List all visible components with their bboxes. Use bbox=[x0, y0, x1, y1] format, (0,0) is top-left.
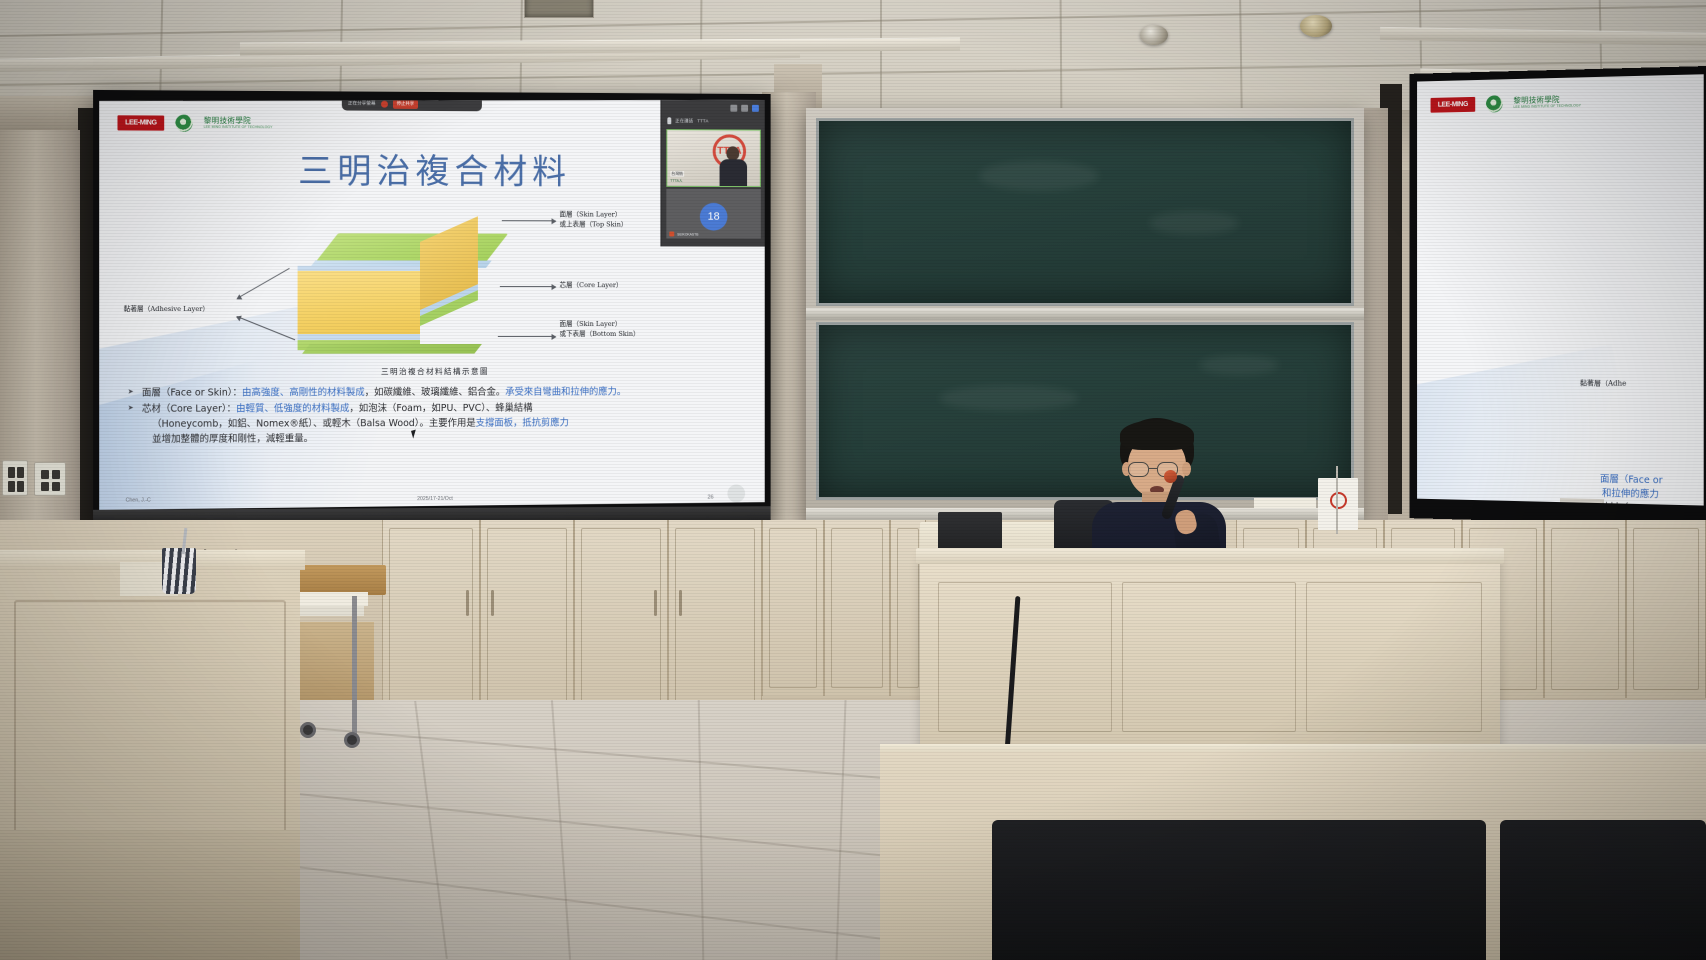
cabinet-door[interactable] bbox=[574, 520, 668, 710]
top-adhesive-front-strip bbox=[298, 266, 420, 271]
arrow-to-core bbox=[500, 286, 556, 287]
top-skin-layer-face bbox=[316, 233, 508, 262]
bullet-2-body-a: 由輕質、低強度的材料製成 bbox=[236, 403, 349, 414]
flag-pole bbox=[1336, 466, 1338, 534]
lee-ming-logo-text: LEE-MING bbox=[1438, 101, 1468, 109]
slide-footer-date: 2025/17-21/Oct bbox=[417, 496, 453, 502]
table-caster-wheel bbox=[344, 732, 360, 748]
recording-dot-icon bbox=[381, 100, 388, 107]
lee-ming-logo-text: LEE-MING bbox=[125, 119, 157, 126]
podium-top-edge bbox=[916, 548, 1504, 564]
label-core-layer: 芯層（Core Layer） bbox=[559, 281, 622, 291]
cabinet-door[interactable] bbox=[762, 520, 824, 696]
second-screen-adhesive-label: 黏著層（Adhe bbox=[1580, 378, 1626, 389]
cabinet-door[interactable] bbox=[668, 520, 762, 710]
mic-icon bbox=[667, 117, 671, 124]
microphone-head-icon bbox=[1164, 470, 1177, 483]
arrow-to-top-skin bbox=[502, 220, 556, 221]
bullet-2-sub-text: （Honeycomb，如鋁、Nomex®紙）、或輕木（Balsa Wood）。主… bbox=[152, 418, 476, 430]
bullet-2-last-line: 並增加整體的厚度和剛性，減輕重量。 bbox=[128, 431, 749, 448]
label-bottom-skin: 面層（Skin Layer） 或下表層（Bottom Skin） bbox=[559, 320, 639, 339]
zoom-tile-name: 台灣紡 bbox=[670, 171, 684, 177]
eyeglasses-bridge bbox=[1149, 468, 1157, 469]
zoom-speaking-label: 正在講話 bbox=[675, 118, 693, 124]
zoom-participant-panel: 正在講話 TTTA TTTA 台灣紡 TTTA人 18 SEIKOKASTB bbox=[660, 99, 764, 246]
desk-flag bbox=[1318, 478, 1358, 530]
main-projection-screen: 正在分享螢幕 停止共享 LEE-MING 黎明技術學院 LEE MING INS… bbox=[93, 90, 771, 534]
wall-light-switch[interactable] bbox=[2, 460, 28, 496]
institute-seal-icon bbox=[1486, 95, 1503, 112]
bench-seat[interactable] bbox=[992, 820, 1486, 960]
slide-page-number: 26 bbox=[708, 495, 714, 501]
slide-logo-row: LEE-MING 黎明技術學院 LEE MING INSTITUTE OF TE… bbox=[117, 114, 272, 132]
table-leg bbox=[352, 596, 357, 746]
avatar: 18 bbox=[700, 203, 728, 231]
slide-corner-badge-icon bbox=[727, 485, 745, 503]
minimize-icon[interactable] bbox=[730, 105, 737, 112]
flag-emblem-icon bbox=[1330, 492, 1347, 509]
eyeglasses-left-lens-icon bbox=[1128, 462, 1149, 477]
zoom-share-status-text: 正在分享螢幕 bbox=[348, 100, 376, 106]
maximize-icon[interactable] bbox=[741, 105, 748, 112]
zoom-video-tile-avatar[interactable]: 18 SEIKOKASTB bbox=[666, 189, 760, 239]
chalkboard-mid-rail bbox=[806, 308, 1364, 320]
lee-ming-logo: LEE-MING bbox=[117, 115, 164, 130]
arrow-to-bottom-skin bbox=[498, 336, 556, 337]
podium-front-panel bbox=[938, 582, 1112, 732]
zoom-share-bar[interactable]: 正在分享螢幕 停止共享 bbox=[342, 96, 482, 111]
ceiling-air-vent bbox=[524, 0, 594, 18]
bench-seat[interactable] bbox=[1500, 820, 1706, 960]
podium-front-panel bbox=[1306, 582, 1482, 732]
cabinet-door[interactable] bbox=[1544, 520, 1626, 698]
zoom-video-tile-active[interactable]: TTTA 台灣紡 TTTA人 bbox=[666, 129, 760, 187]
second-screen-bullet-1b: 和拉伸的應力 bbox=[1602, 485, 1659, 500]
zoom-tile-org: TTTA人 bbox=[670, 179, 682, 184]
projected-slide: 正在分享螢幕 停止共享 LEE-MING 黎明技術學院 LEE MING INS… bbox=[99, 96, 765, 510]
diagram-caption: 三明治複合材料結構示意圖 bbox=[99, 366, 765, 378]
bullet-2-body-b: ，如泡沫（Foam，如PU、PVC）、蜂巢結構 bbox=[349, 402, 532, 413]
presenter-ear bbox=[1182, 462, 1191, 476]
zoom-speaker-name: TTTA bbox=[697, 118, 708, 123]
lee-ming-logo: LEE-MING bbox=[1431, 97, 1476, 113]
second-screen-bullet-1: 面層（Face or bbox=[1600, 471, 1663, 486]
participant-silhouette bbox=[719, 146, 748, 187]
core-layer-front bbox=[298, 266, 420, 338]
lecture-hall-photo: LEE-MING 黎明技術學院 LEE MING INSTITUTE OF TE… bbox=[0, 0, 1706, 960]
wall-outlet-panel[interactable] bbox=[34, 462, 66, 496]
table-caster-wheel bbox=[300, 722, 316, 738]
zoom-window-controls[interactable] bbox=[730, 105, 758, 112]
zoom-stop-share-button[interactable]: 停止共享 bbox=[393, 99, 419, 108]
podium-front-panel bbox=[1122, 582, 1296, 732]
bottom-skin-face bbox=[302, 344, 482, 354]
cabinet-door[interactable] bbox=[480, 520, 574, 710]
label-top-skin: 面層（Skin Layer） 或上表層（Top Skin） bbox=[559, 210, 627, 229]
zoom-tile2-name: SEIKOKASTB bbox=[677, 233, 698, 237]
paper-cup bbox=[162, 548, 196, 594]
cabinet-door[interactable] bbox=[824, 520, 890, 696]
presenter-hair-front bbox=[1120, 420, 1194, 450]
layout-icon[interactable] bbox=[752, 105, 759, 112]
cabinet-door[interactable] bbox=[382, 520, 480, 710]
second-screen-bullet-2: 芯材（Core La bbox=[1600, 499, 1665, 506]
slide-footer-author: Chen, J.-C bbox=[126, 497, 151, 503]
bullet-item-core-layer: 芯材（Core Layer）：由輕質、低強度的材料製成，如泡沫（Foam，如PU… bbox=[128, 401, 749, 417]
secondary-projection-screen: LEE-MING 黎明技術學院 LEE MING INSTITUTE OF TE… bbox=[1409, 66, 1706, 526]
desk-base bbox=[0, 830, 300, 960]
chalkboard-upper-panel bbox=[816, 118, 1354, 306]
institute-name-cn: 黎明技術學院 bbox=[204, 117, 273, 125]
papers-on-podium bbox=[1254, 498, 1316, 508]
bullet-item-face-skin: 面層（Face or Skin）：由高強度、高剛性的材料製成，如碳纖維、玻璃纖維… bbox=[128, 385, 749, 401]
ceiling-downlight bbox=[1300, 15, 1332, 37]
bullet-1-body-a: 由高強度、高剛性的材料製成 bbox=[242, 387, 365, 398]
bullet-2-lead: 芯材（Core Layer）： bbox=[142, 403, 236, 414]
arrow-to-adhesive-top bbox=[237, 268, 290, 299]
muted-mic-icon bbox=[669, 232, 674, 237]
bullet-2-sub-highlight: 支撐面板，抵抗剪應力 bbox=[476, 418, 569, 429]
zoom-status-bar: 正在講話 TTTA bbox=[667, 117, 760, 124]
bullet-1-body-c: 承受來自彎曲和拉伸的應力。 bbox=[505, 387, 626, 398]
sandwich-structure-diagram bbox=[298, 216, 498, 357]
institute-name-en: LEE MING INSTITUTE OF TECHNOLOGY bbox=[204, 126, 273, 130]
avatar-initials: 18 bbox=[708, 211, 720, 223]
institute-name-en: LEE MING INSTITUTE OF TECHNOLOGY bbox=[1513, 105, 1581, 110]
bullet-1-lead: 面層（Face or Skin）： bbox=[142, 387, 242, 398]
ceiling-downlight bbox=[1140, 25, 1168, 45]
label-adhesive-layer: 黏著層（Adhesive Layer） bbox=[124, 305, 210, 315]
cabinet-door[interactable] bbox=[1626, 520, 1706, 698]
second-screen-edge-block bbox=[1560, 498, 1604, 505]
slide-bullet-list: 面層（Face or Skin）：由高強度、高剛性的材料製成，如碳纖維、玻璃纖維… bbox=[128, 385, 749, 447]
bullet-1-body-b: ，如碳纖維、玻璃纖維、鋁合金。 bbox=[365, 387, 506, 398]
institute-seal-icon bbox=[175, 115, 192, 132]
